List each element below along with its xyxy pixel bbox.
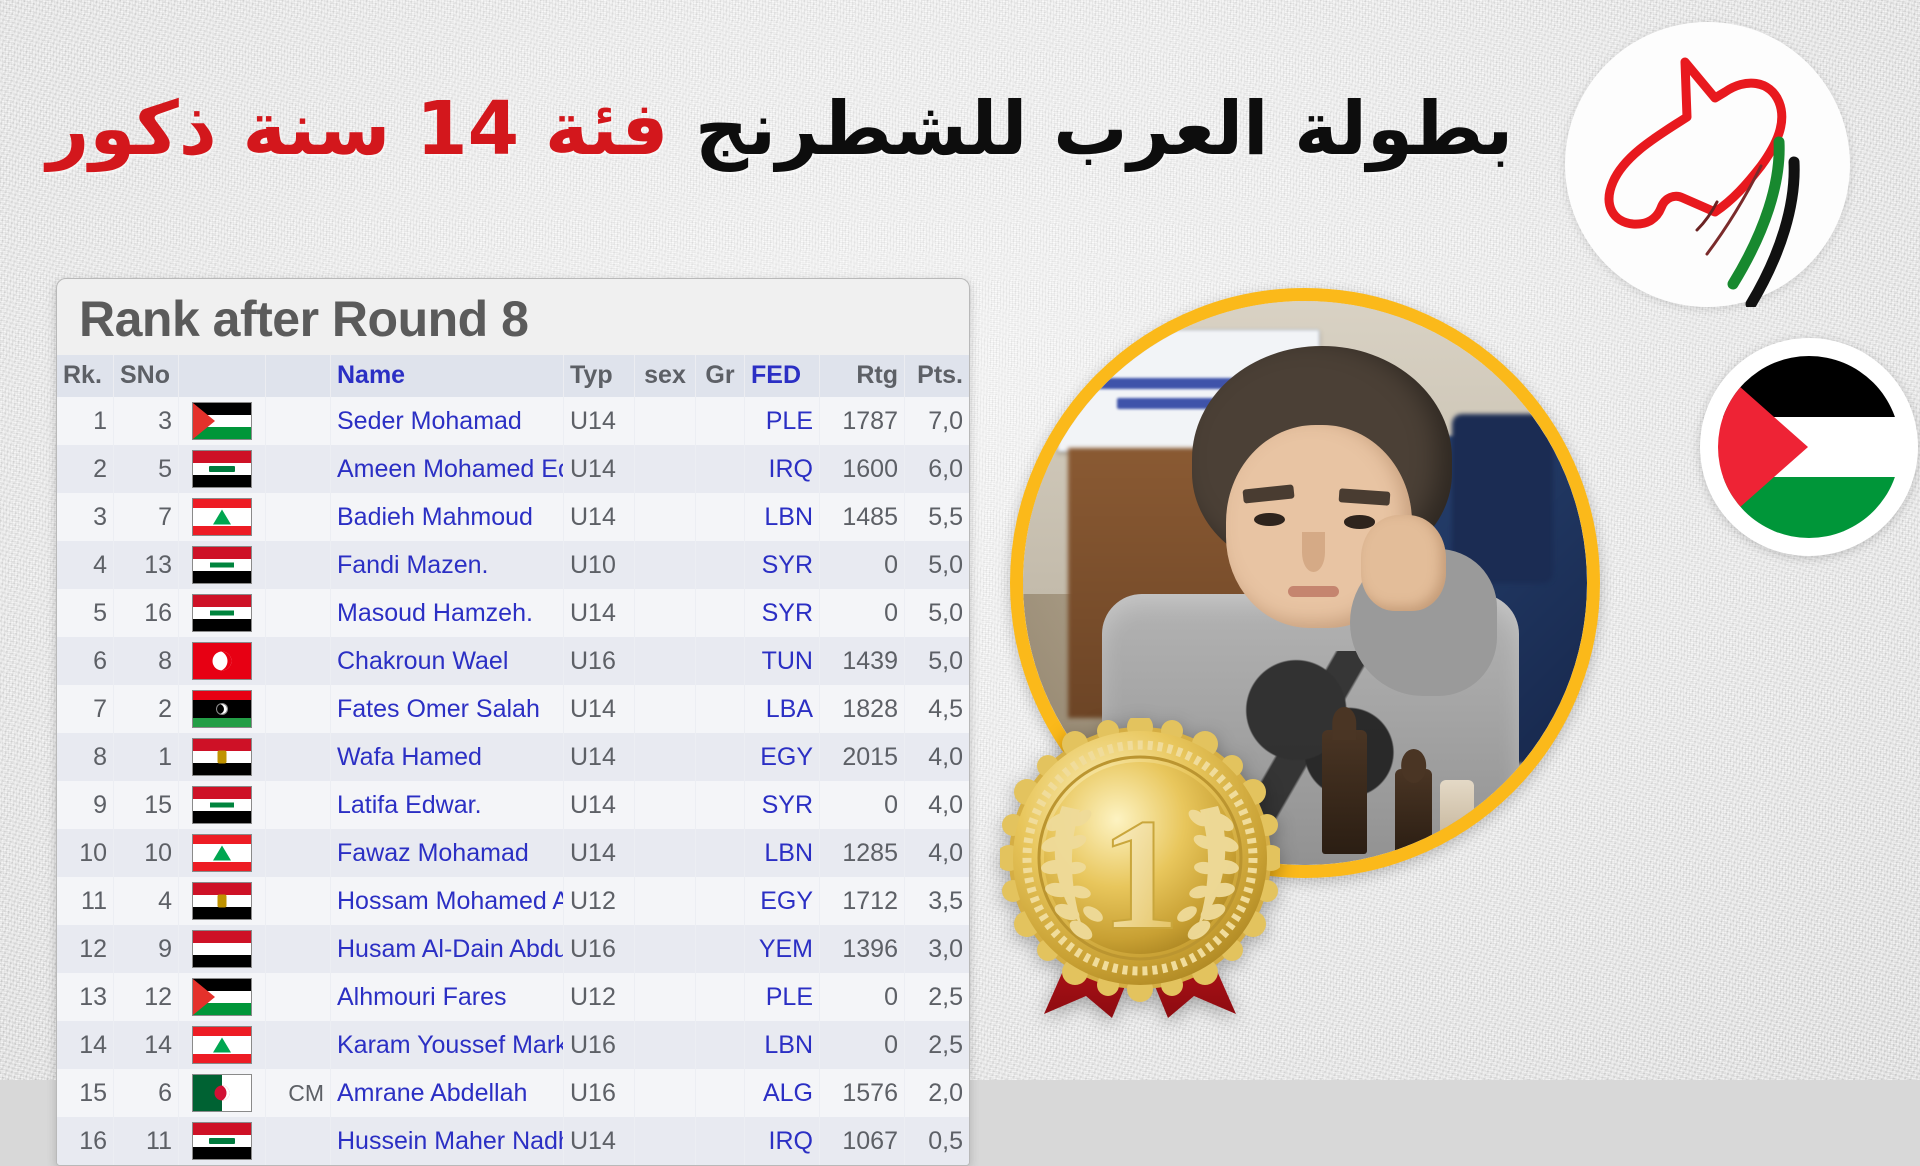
col-header-fed[interactable]: FED: [745, 355, 820, 397]
cell-title: [266, 733, 331, 781]
table-header: Rk. SNo Name Typ sex Gr FED Rtg Pts.: [57, 355, 969, 397]
cell-sno: 1: [114, 733, 179, 781]
cell-flag: [179, 973, 266, 1021]
table-row[interactable]: 68Chakroun WaelU16TUN14395,0: [57, 637, 969, 685]
table-row[interactable]: 72Fates Omer SalahU14LBA18284,5: [57, 685, 969, 733]
flag-icon-lbn: [192, 834, 252, 872]
cell-rk: 16: [57, 1117, 114, 1165]
cell-name: Fawaz Mohamad: [331, 829, 564, 877]
chess-piece-white: [1440, 780, 1474, 853]
table-row[interactable]: 129Husam Al-Dain Abdulhakim NasherU16YEM…: [57, 925, 969, 973]
cell-rk: 13: [57, 973, 114, 1021]
cell-flag: [179, 637, 266, 685]
flag-icon-lbn: [192, 1026, 252, 1064]
cell-rk: 5: [57, 589, 114, 637]
page-title: Rank after Round 8: [57, 279, 969, 355]
photo-eye-left: [1254, 513, 1285, 527]
flag-icon-ple: [192, 978, 252, 1016]
cell-pts: 4,0: [905, 829, 970, 877]
cell-fed: SYR: [745, 541, 820, 589]
cell-rtg: 1600: [820, 445, 905, 493]
cell-name: Fandi Mazen.: [331, 541, 564, 589]
cell-gr: [696, 1069, 745, 1117]
cell-title: [266, 541, 331, 589]
flag-icon-syr: [192, 594, 252, 632]
cell-typ: U14: [564, 445, 635, 493]
cell-fed: PLE: [745, 397, 820, 445]
cell-typ: U14: [564, 1117, 635, 1165]
cell-name: Masoud Hamzeh.: [331, 589, 564, 637]
cell-typ: U10: [564, 541, 635, 589]
cell-title: [266, 829, 331, 877]
cell-pts: 2,0: [905, 1069, 970, 1117]
cell-sex: [635, 973, 696, 1021]
cell-pts: 4,0: [905, 781, 970, 829]
photo-hand: [1361, 515, 1446, 611]
cell-rtg: 1439: [820, 637, 905, 685]
cell-sno: 14: [114, 1021, 179, 1069]
cell-fed: YEM: [745, 925, 820, 973]
cell-sex: [635, 397, 696, 445]
cell-rtg: 1712: [820, 877, 905, 925]
col-header-sex[interactable]: sex: [635, 355, 696, 397]
table-row[interactable]: 25Ameen Mohamed EdanU14IRQ16006,0: [57, 445, 969, 493]
cell-name: Alhmouri Fares: [331, 973, 564, 1021]
cell-title: [266, 781, 331, 829]
cell-sex: [635, 1117, 696, 1165]
col-header-sno[interactable]: SNo: [114, 355, 179, 397]
cell-sno: 16: [114, 589, 179, 637]
cell-sno: 15: [114, 781, 179, 829]
cell-rk: 12: [57, 925, 114, 973]
cell-fed: ALG: [745, 1069, 820, 1117]
cell-rtg: 2015: [820, 733, 905, 781]
cell-title: [266, 445, 331, 493]
cell-title: [266, 973, 331, 1021]
cell-rk: 3: [57, 493, 114, 541]
cell-sex: [635, 733, 696, 781]
col-header-typ[interactable]: Typ: [564, 355, 635, 397]
cell-sno: 7: [114, 493, 179, 541]
cell-rtg: 0: [820, 973, 905, 1021]
cell-typ: U16: [564, 925, 635, 973]
cell-title: [266, 1021, 331, 1069]
cell-typ: U14: [564, 733, 635, 781]
col-header-title: [266, 355, 331, 397]
cell-sex: [635, 1021, 696, 1069]
cell-gr: [696, 1021, 745, 1069]
cell-title: [266, 877, 331, 925]
col-header-flag: [179, 355, 266, 397]
cell-flag: [179, 445, 266, 493]
cell-sno: 13: [114, 541, 179, 589]
palestine-flag-icon: [1718, 356, 1900, 538]
cell-pts: 5,0: [905, 637, 970, 685]
cell-fed: LBN: [745, 493, 820, 541]
cell-rtg: 1396: [820, 925, 905, 973]
cell-pts: 2,5: [905, 973, 970, 1021]
cell-gr: [696, 829, 745, 877]
cell-sno: 6: [114, 1069, 179, 1117]
cell-gr: [696, 589, 745, 637]
medal-place-number: 1: [1100, 785, 1180, 963]
cell-typ: U14: [564, 493, 635, 541]
cell-title: [266, 1117, 331, 1165]
cell-name: Badieh Mahmoud: [331, 493, 564, 541]
col-header-name[interactable]: Name: [331, 355, 564, 397]
cell-name: Hossam Mohamed Adham: [331, 877, 564, 925]
cell-pts: 4,5: [905, 685, 970, 733]
cell-rk: 14: [57, 1021, 114, 1069]
table-row[interactable]: 13Seder MohamadU14PLE17877,0: [57, 397, 969, 445]
cell-typ: U16: [564, 1069, 635, 1117]
col-header-rank[interactable]: Rk.: [57, 355, 114, 397]
cell-name: Seder Mohamad: [331, 397, 564, 445]
cell-title: [266, 589, 331, 637]
cell-sno: 5: [114, 445, 179, 493]
table-row[interactable]: 1010Fawaz MohamadU14LBN12854,0: [57, 829, 969, 877]
cell-pts: 3,5: [905, 877, 970, 925]
cell-rk: 4: [57, 541, 114, 589]
cell-flag: [179, 1021, 266, 1069]
cell-fed: TUN: [745, 637, 820, 685]
cell-gr: [696, 973, 745, 1021]
cell-gr: [696, 493, 745, 541]
table-row[interactable]: 1414Karam Youssef MarkU16LBN02,5: [57, 1021, 969, 1069]
cell-sex: [635, 685, 696, 733]
col-header-pts[interactable]: Pts.: [905, 355, 970, 397]
cell-fed: LBN: [745, 829, 820, 877]
table-row[interactable]: 114Hossam Mohamed AdhamU12EGY17123,5: [57, 877, 969, 925]
cell-pts: 0,5: [905, 1117, 970, 1165]
cell-sex: [635, 781, 696, 829]
flag-icon-irq: [192, 1122, 252, 1160]
cell-typ: U16: [564, 637, 635, 685]
results-panel: Rank after Round 8 Rk. SNo Name Typ sex …: [56, 278, 970, 1166]
cell-sex: [635, 925, 696, 973]
headline-arabic-category: فئة 14 سنة ذكور: [47, 86, 669, 172]
cell-sno: 10: [114, 829, 179, 877]
cell-name: Husam Al-Dain Abdulhakim Nasher: [331, 925, 564, 973]
cell-rtg: 0: [820, 781, 905, 829]
headline-arabic-title: بطولة العرب للشطرنج: [695, 86, 1513, 172]
cell-sex: [635, 493, 696, 541]
photo-eye-right: [1344, 515, 1375, 529]
table-row[interactable]: 1611Hussein Maher NadhamU14IRQ10670,5: [57, 1117, 969, 1165]
cell-rtg: 1067: [820, 1117, 905, 1165]
photo-nose: [1302, 532, 1325, 571]
table-row[interactable]: 516Masoud Hamzeh.U14SYR05,0: [57, 589, 969, 637]
headline-banner: بطولة العرب للشطرنج فئة 14 سنة ذكور: [0, 86, 1560, 172]
table-row[interactable]: 915Latifa Edwar.U14SYR04,0: [57, 781, 969, 829]
flag-icon-ple: [192, 402, 252, 440]
flag-icon-syr: [192, 786, 252, 824]
tournament-logo: [1565, 22, 1850, 307]
flag-icon-tun: [192, 642, 252, 680]
cell-fed: EGY: [745, 877, 820, 925]
cell-sno: 11: [114, 1117, 179, 1165]
cell-pts: 3,0: [905, 925, 970, 973]
cell-fed: EGY: [745, 733, 820, 781]
cell-sex: [635, 1069, 696, 1117]
cell-title: [266, 493, 331, 541]
cell-rk: 11: [57, 877, 114, 925]
cell-name: Amrane Abdellah: [331, 1069, 564, 1117]
cell-gr: [696, 637, 745, 685]
col-header-gr[interactable]: Gr: [696, 355, 745, 397]
chess-piece-pawn: [1395, 769, 1432, 854]
cell-sno: 12: [114, 973, 179, 1021]
flag-icon-egy: [192, 882, 252, 920]
cell-sex: [635, 877, 696, 925]
palestine-flag-badge: [1700, 338, 1918, 556]
cell-pts: 7,0: [905, 397, 970, 445]
table-row[interactable]: 1312Alhmouri FaresU12PLE02,5: [57, 973, 969, 1021]
cell-fed: IRQ: [745, 1117, 820, 1165]
cell-flag: [179, 733, 266, 781]
cell-title: [266, 637, 331, 685]
cell-fed: IRQ: [745, 445, 820, 493]
cell-rtg: 1576: [820, 1069, 905, 1117]
table-header-row: Rk. SNo Name Typ sex Gr FED Rtg Pts.: [57, 355, 969, 397]
cell-rk: 15: [57, 1069, 114, 1117]
cell-flag: [179, 1117, 266, 1165]
cell-typ: U16: [564, 1021, 635, 1069]
cell-sno: 8: [114, 637, 179, 685]
cell-flag: [179, 589, 266, 637]
cell-sno: 3: [114, 397, 179, 445]
cell-name: Chakroun Wael: [331, 637, 564, 685]
cell-flag: [179, 541, 266, 589]
cell-rtg: 0: [820, 1021, 905, 1069]
cell-name: Hussein Maher Nadham: [331, 1117, 564, 1165]
cell-sex: [635, 637, 696, 685]
cell-rk: 2: [57, 445, 114, 493]
chess-piece-king: [1322, 730, 1367, 854]
cell-name: Ameen Mohamed Edan: [331, 445, 564, 493]
cell-flag: [179, 781, 266, 829]
cell-gr: [696, 781, 745, 829]
cell-fed: LBN: [745, 1021, 820, 1069]
cell-rk: 8: [57, 733, 114, 781]
flag-icon-lbn: [192, 498, 252, 536]
horse-head-icon: [1565, 22, 1850, 307]
cell-name: Fates Omer Salah: [331, 685, 564, 733]
flag-icon-yem: [192, 930, 252, 968]
col-header-rtg[interactable]: Rtg: [820, 355, 905, 397]
cell-pts: 4,0: [905, 733, 970, 781]
cell-rk: 9: [57, 781, 114, 829]
cell-name: Wafa Hamed: [331, 733, 564, 781]
cell-rk: 1: [57, 397, 114, 445]
table-row[interactable]: 413Fandi Mazen.U10SYR05,0: [57, 541, 969, 589]
cell-flag: [179, 397, 266, 445]
cell-title: [266, 397, 331, 445]
cell-pts: 2,5: [905, 1021, 970, 1069]
cell-rtg: 1285: [820, 829, 905, 877]
gold-medal-badge: 1: [1000, 718, 1280, 1018]
cell-typ: U14: [564, 397, 635, 445]
cell-pts: 5,0: [905, 589, 970, 637]
cell-fed: SYR: [745, 589, 820, 637]
flag-icon-irq: [192, 450, 252, 488]
table-row[interactable]: 81Wafa HamedU14EGY20154,0: [57, 733, 969, 781]
cell-flag: [179, 829, 266, 877]
cell-flag: [179, 493, 266, 541]
flag-icon-lba: [192, 690, 252, 728]
cell-typ: U14: [564, 685, 635, 733]
cell-rtg: 0: [820, 589, 905, 637]
cell-flag: [179, 925, 266, 973]
cell-sex: [635, 589, 696, 637]
cell-pts: 5,0: [905, 541, 970, 589]
cell-sno: 4: [114, 877, 179, 925]
rank-table: Rk. SNo Name Typ sex Gr FED Rtg Pts. 13S…: [57, 355, 969, 1165]
cell-sex: [635, 445, 696, 493]
cell-flag: [179, 877, 266, 925]
cell-typ: U14: [564, 781, 635, 829]
table-row[interactable]: 156CMAmrane AbdellahU16ALG15762,0: [57, 1069, 969, 1117]
cell-title: CM: [266, 1069, 331, 1117]
cell-typ: U12: [564, 973, 635, 1021]
cell-gr: [696, 397, 745, 445]
flag-icon-syr: [192, 546, 252, 584]
cell-typ: U14: [564, 829, 635, 877]
cell-name: Karam Youssef Mark: [331, 1021, 564, 1069]
cell-rtg: 0: [820, 541, 905, 589]
cell-rk: 6: [57, 637, 114, 685]
cell-pts: 6,0: [905, 445, 970, 493]
cell-gr: [696, 541, 745, 589]
cell-sex: [635, 829, 696, 877]
cell-typ: U14: [564, 589, 635, 637]
cell-gr: [696, 877, 745, 925]
cell-typ: U12: [564, 877, 635, 925]
cell-title: [266, 925, 331, 973]
cell-flag: [179, 1069, 266, 1117]
cell-flag: [179, 685, 266, 733]
cell-title: [266, 685, 331, 733]
cell-rk: 10: [57, 829, 114, 877]
cell-gr: [696, 445, 745, 493]
cell-sex: [635, 541, 696, 589]
table-row[interactable]: 37Badieh MahmoudU14LBN14855,5: [57, 493, 969, 541]
cell-gr: [696, 1117, 745, 1165]
cell-rtg: 1787: [820, 397, 905, 445]
cell-pts: 5,5: [905, 493, 970, 541]
cell-sno: 2: [114, 685, 179, 733]
cell-rk: 7: [57, 685, 114, 733]
cell-gr: [696, 685, 745, 733]
cell-sno: 9: [114, 925, 179, 973]
cell-rtg: 1828: [820, 685, 905, 733]
cell-rtg: 1485: [820, 493, 905, 541]
cell-fed: SYR: [745, 781, 820, 829]
table-body: 13Seder MohamadU14PLE17877,025Ameen Moha…: [57, 397, 969, 1165]
cell-fed: PLE: [745, 973, 820, 1021]
cell-gr: [696, 925, 745, 973]
cell-gr: [696, 733, 745, 781]
flag-icon-egy: [192, 738, 252, 776]
cell-fed: LBA: [745, 685, 820, 733]
cell-name: Latifa Edwar.: [331, 781, 564, 829]
photo-mouth: [1288, 586, 1339, 597]
